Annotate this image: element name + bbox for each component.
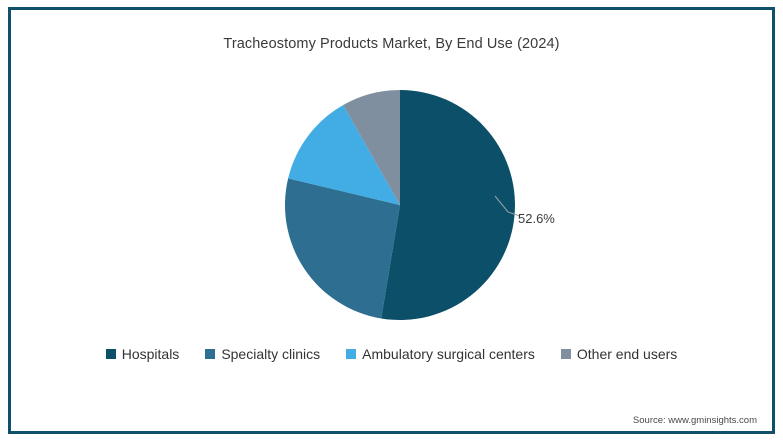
pie-slice-hospitals[interactable] <box>381 90 515 320</box>
legend-item-specialty-clinics[interactable]: Specialty clinics <box>205 347 320 361</box>
legend-label-specialty-clinics: Specialty clinics <box>221 347 320 361</box>
slice-percentage-label-hospitals: 52.6% <box>518 211 555 226</box>
legend-label-other-end-users: Other end users <box>577 347 677 361</box>
legend-swatch-icon-hospitals <box>106 349 116 359</box>
legend-swatch-icon-specialty-clinics <box>205 349 215 359</box>
legend-label-hospitals: Hospitals <box>122 347 180 361</box>
source-attribution: Source: www.gminsights.com <box>633 415 757 426</box>
legend-swatch-icon-ambulatory-surgical-centers <box>346 349 356 359</box>
pie-chart-plot-area <box>0 0 783 442</box>
legend-item-ambulatory-surgical-centers[interactable]: Ambulatory surgical centers <box>346 347 535 361</box>
pie-slice-group <box>285 90 515 320</box>
chart-legend: Hospitals Specialty clinics Ambulatory s… <box>0 347 783 361</box>
legend-swatch-icon-other-end-users <box>561 349 571 359</box>
legend-label-ambulatory-surgical-centers: Ambulatory surgical centers <box>362 347 535 361</box>
legend-item-hospitals[interactable]: Hospitals <box>106 347 180 361</box>
chart-page: Tracheostomy Products Market, By End Use… <box>0 0 783 442</box>
pie-chart-svg <box>0 0 783 442</box>
legend-item-other-end-users[interactable]: Other end users <box>561 347 677 361</box>
